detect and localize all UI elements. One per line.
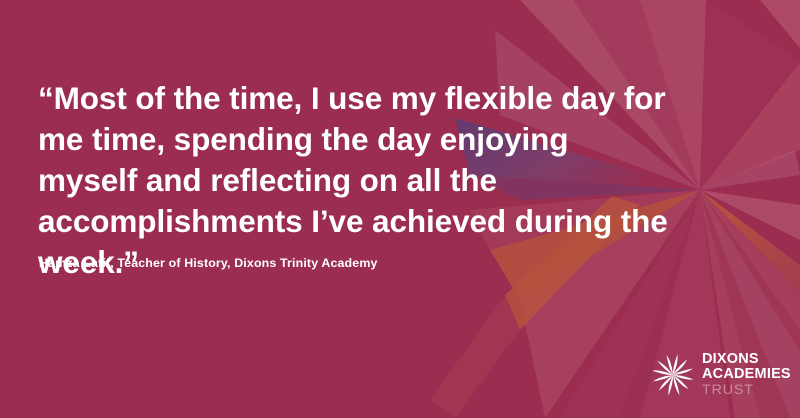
logo-line-dixons: DIXONS (702, 352, 791, 368)
logo-wordmark: DIXONS ACADEMIES TRUST (702, 352, 791, 399)
quote-graphic-card: “Most of the time, I use my flexible day… (0, 0, 800, 418)
dixons-academies-trust-logo: DIXONS ACADEMIES TRUST (651, 351, 787, 399)
logo-line-trust: TRUST (702, 383, 791, 399)
quote-attribution: Hamza Latif, Teacher of History, Dixons … (39, 255, 378, 271)
quote-text: “Most of the time, I use my flexible day… (38, 78, 668, 283)
dixons-pinwheel-starburst-icon (651, 353, 695, 397)
quote-block: “Most of the time, I use my flexible day… (38, 78, 668, 283)
logo-line-academies: ACADEMIES (702, 367, 791, 383)
